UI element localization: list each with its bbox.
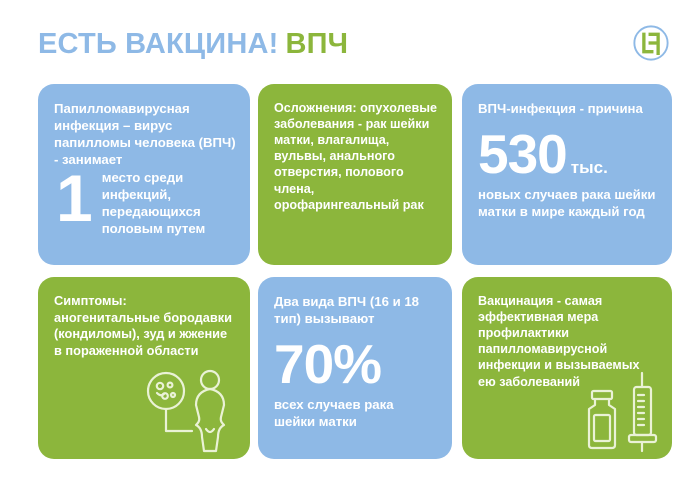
card-complications-content: Осложнения: опухолевые заболевания - рак…: [258, 84, 452, 265]
card-hpv-infection-big-number: 1: [56, 171, 93, 225]
page-title-primary: ЕСТЬ ВАКЦИНА!: [38, 28, 279, 60]
card-symptoms-lead: Симптомы: аногенитальные бородавки (конд…: [54, 293, 236, 360]
card-symptoms-content: Симптомы: аногенитальные бородавки (конд…: [38, 277, 250, 459]
card-hpv-infection-lead: Папилломавирусная инфекция – вирус папил…: [54, 100, 236, 169]
page-title-accent: ВПЧ: [286, 28, 349, 60]
card-cases-tail: новых случаев рака шейки матки в мире ка…: [478, 186, 658, 220]
card-complications: Осложнения: опухолевые заболевания - рак…: [258, 84, 452, 265]
card-types: Два вида ВПЧ (16 и 18 тип) вызывают 70% …: [258, 277, 452, 459]
card-types-big-number: 70%: [274, 337, 438, 392]
card-hpv-infection-content: Папилломавирусная инфекция – вирус папил…: [38, 84, 250, 265]
page-title: ЕСТЬ ВАКЦИНА!ВПЧ: [38, 30, 348, 59]
card-complications-lead: Осложнения: опухолевые заболевания - рак…: [274, 100, 438, 213]
card-vaccination: Вакцинация - самая эффективная мера проф…: [462, 277, 672, 459]
card-cases-big-number: 530: [478, 123, 567, 185]
card-hpv-infection: Папилломавирусная инфекция – вирус папил…: [38, 84, 250, 265]
card-symptoms: Симптомы: аногенитальные бородавки (конд…: [38, 277, 250, 459]
card-vaccination-content: Вакцинация - самая эффективная мера проф…: [462, 277, 672, 459]
card-types-content: Два вида ВПЧ (16 и 18 тип) вызывают 70% …: [258, 277, 452, 459]
clinic-monogram-logo-icon: [632, 24, 670, 62]
page-header: ЕСТЬ ВАКЦИНА!ВПЧ: [0, 0, 700, 84]
card-cases-big-number-row: 530тыс.: [478, 127, 658, 182]
card-cases: ВПЧ-инфекция - причина 530тыс. новых слу…: [462, 84, 672, 265]
card-cases-unit: тыс.: [571, 158, 608, 177]
infographic-card-grid: Папилломавирусная инфекция – вирус папил…: [38, 84, 672, 459]
card-types-tail: всех случаев рака шейки матки: [274, 396, 438, 430]
card-cases-content: ВПЧ-инфекция - причина 530тыс. новых слу…: [462, 84, 672, 265]
card-cases-lead: ВПЧ-инфекция - причина: [478, 100, 658, 117]
card-vaccination-lead: Вакцинация - самая эффективная мера проф…: [478, 293, 658, 390]
card-types-lead: Два вида ВПЧ (16 и 18 тип) вызывают: [274, 293, 438, 327]
